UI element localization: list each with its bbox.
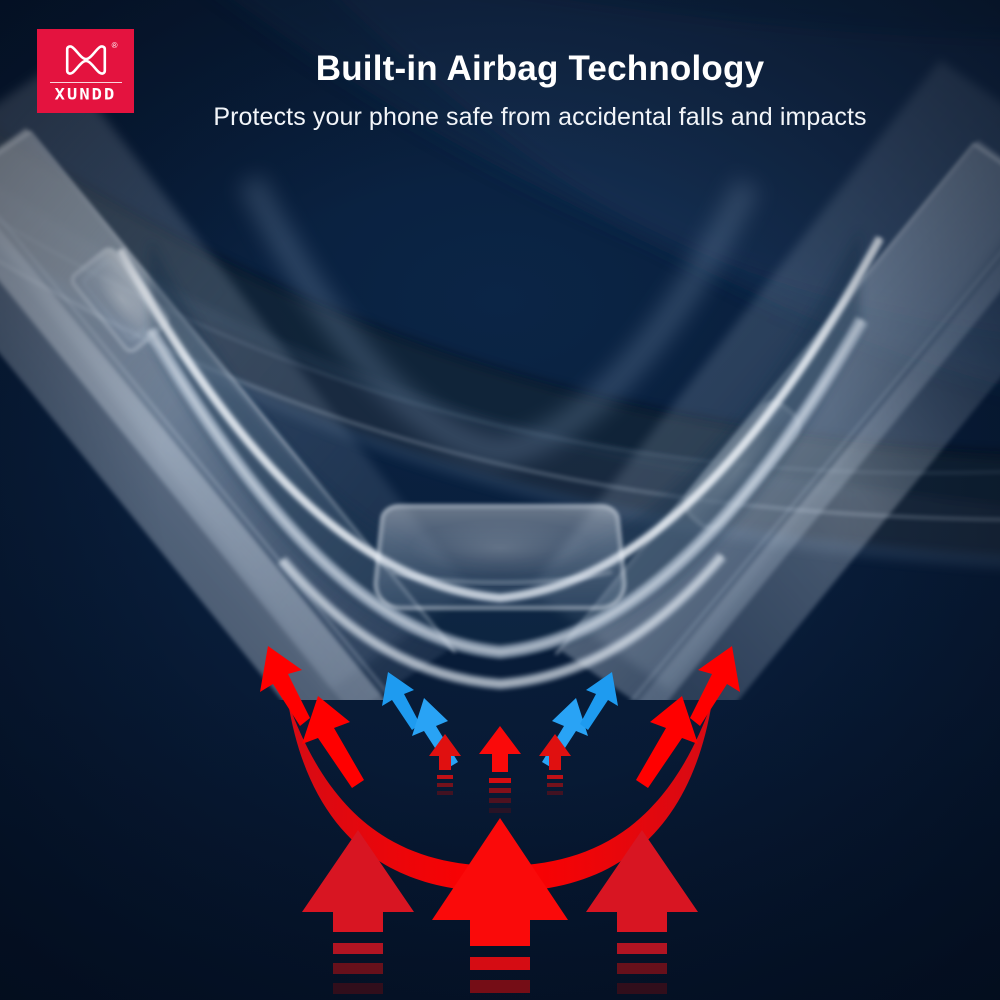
deflected-arrow-right-outer <box>580 672 618 730</box>
logo-mark-wrapper: ® <box>59 43 113 77</box>
butterfly-hourglass-mark-icon <box>64 45 108 75</box>
logo-divider <box>50 82 122 83</box>
registered-trademark-icon: ® <box>112 42 118 50</box>
large-impact-arrow-center <box>432 818 568 1000</box>
deflected-arrow-left-outer <box>382 672 420 730</box>
outward-arrow-left-outer <box>260 646 310 726</box>
deflected-arrow-right-inner <box>542 698 588 768</box>
outward-arrow-right-outer <box>690 646 740 726</box>
impact-absorption-diagram <box>0 630 1000 1000</box>
small-impact-arrow-center <box>479 726 521 813</box>
deflected-arrow-left-inner <box>412 698 458 768</box>
page-subtitle: Protects your phone safe from accidental… <box>120 103 960 132</box>
brand-logo-badge[interactable]: ® XUNDD <box>37 29 134 113</box>
product-feature-poster: ® XUNDD Built-in Airbag Technology Prote… <box>0 0 1000 1000</box>
page-title: Built-in Airbag Technology <box>150 50 930 89</box>
logo-wordmark: XUNDD <box>55 87 117 103</box>
